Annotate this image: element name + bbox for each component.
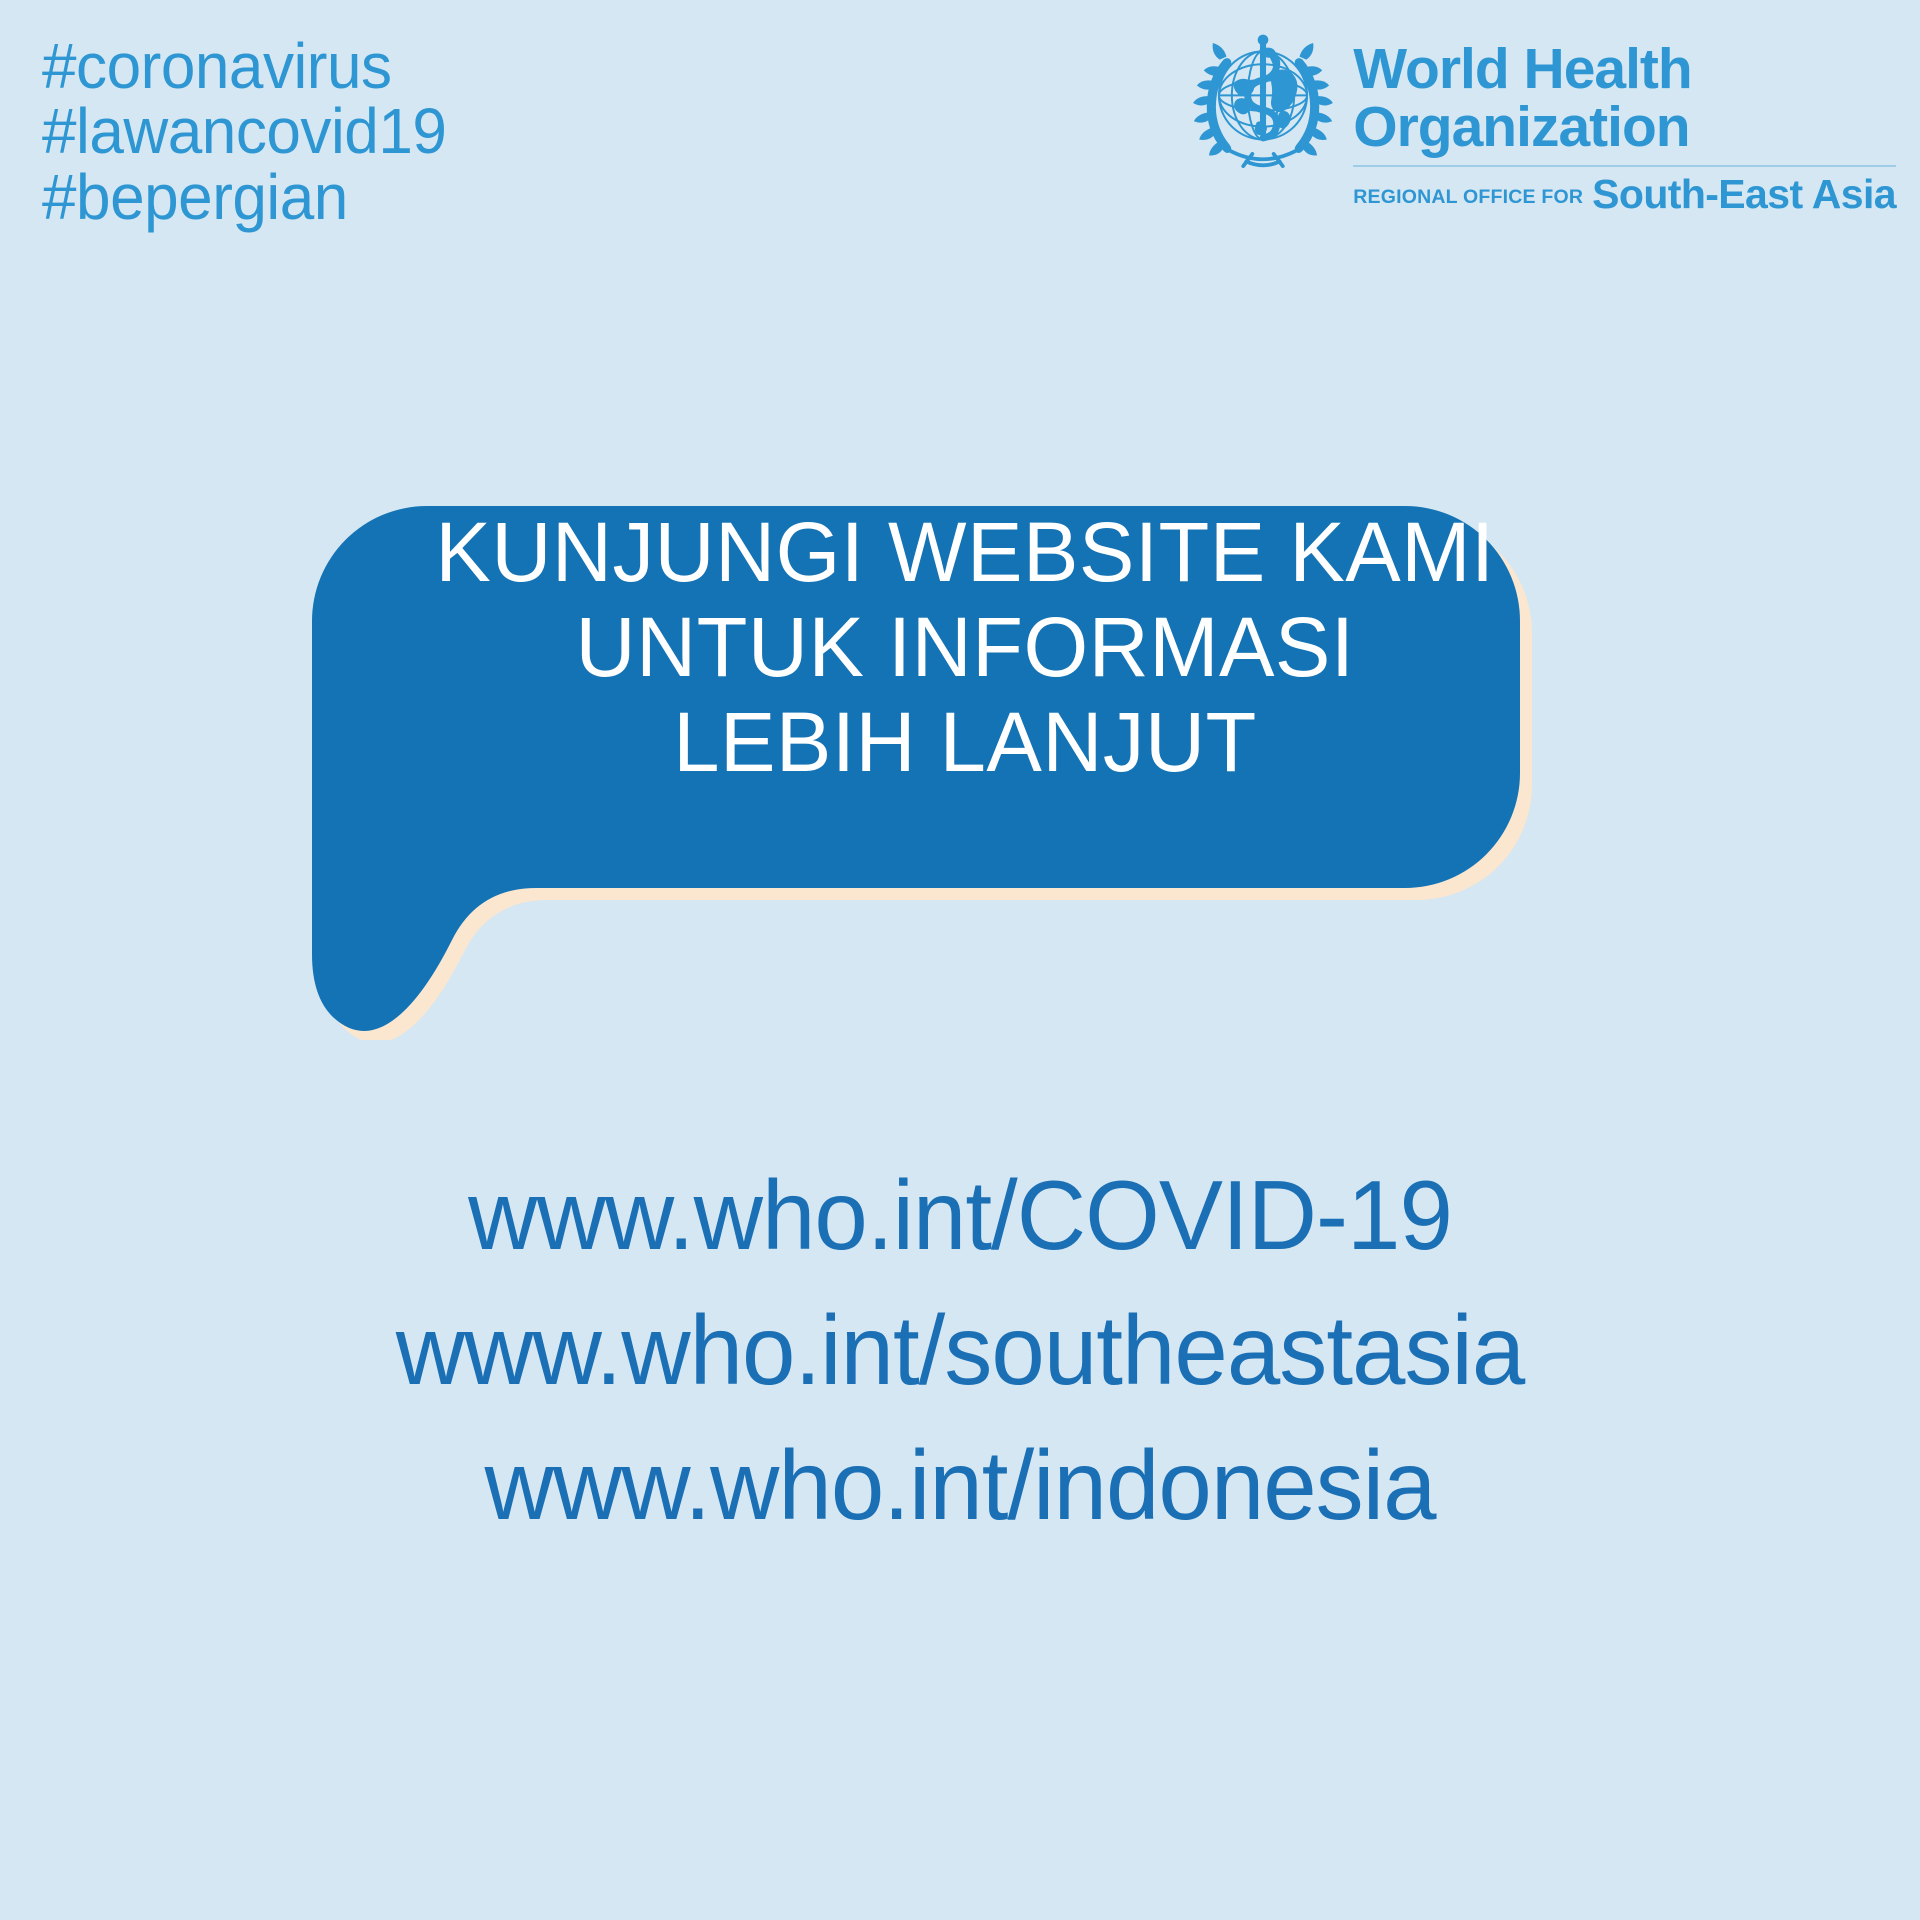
url-who-covid19[interactable]: www.who.int/COVID-19 [19, 1148, 1901, 1283]
who-region-row: REGIONAL OFFICE FOR South-East Asia [1353, 174, 1896, 215]
who-emblem-icon [1187, 22, 1339, 184]
hashtag-coronavirus: #coronavirus [42, 34, 446, 99]
url-who-southeastasia[interactable]: www.who.int/southeastasia [19, 1283, 1901, 1418]
bubble-line-1: KUNJUNGI WEBSITE KAMI [421, 505, 1510, 600]
who-wordmark: World Health Organization REGIONAL OFFIC… [1353, 18, 1896, 215]
speech-bubble: KUNJUNGI WEBSITE KAMI UNTUK INFORMASI LE… [0, 460, 1920, 1040]
who-logo-divider [1353, 165, 1896, 167]
url-list: www.who.int/COVID-19 www.who.int/southea… [0, 1148, 1920, 1554]
who-name-line2: Organization [1353, 98, 1896, 156]
speech-bubble-text: KUNJUNGI WEBSITE KAMI UNTUK INFORMASI LE… [415, 505, 1515, 790]
bubble-line-3: LEBIH LANJUT [421, 695, 1510, 790]
hashtag-lawancovid19: #lawancovid19 [42, 99, 446, 164]
who-name-line1: World Health [1353, 40, 1896, 98]
bubble-line-2: UNTUK INFORMASI [421, 600, 1510, 695]
url-who-indonesia[interactable]: www.who.int/indonesia [19, 1418, 1901, 1553]
hashtag-list: #coronavirus #lawancovid19 #bepergian [42, 34, 459, 230]
who-region-prefix: REGIONAL OFFICE FOR [1353, 186, 1583, 215]
who-logo: World Health Organization REGIONAL OFFIC… [1187, 18, 1896, 215]
hashtag-bepergian: #bepergian [42, 165, 446, 230]
who-region-name: South-East Asia [1592, 174, 1896, 215]
